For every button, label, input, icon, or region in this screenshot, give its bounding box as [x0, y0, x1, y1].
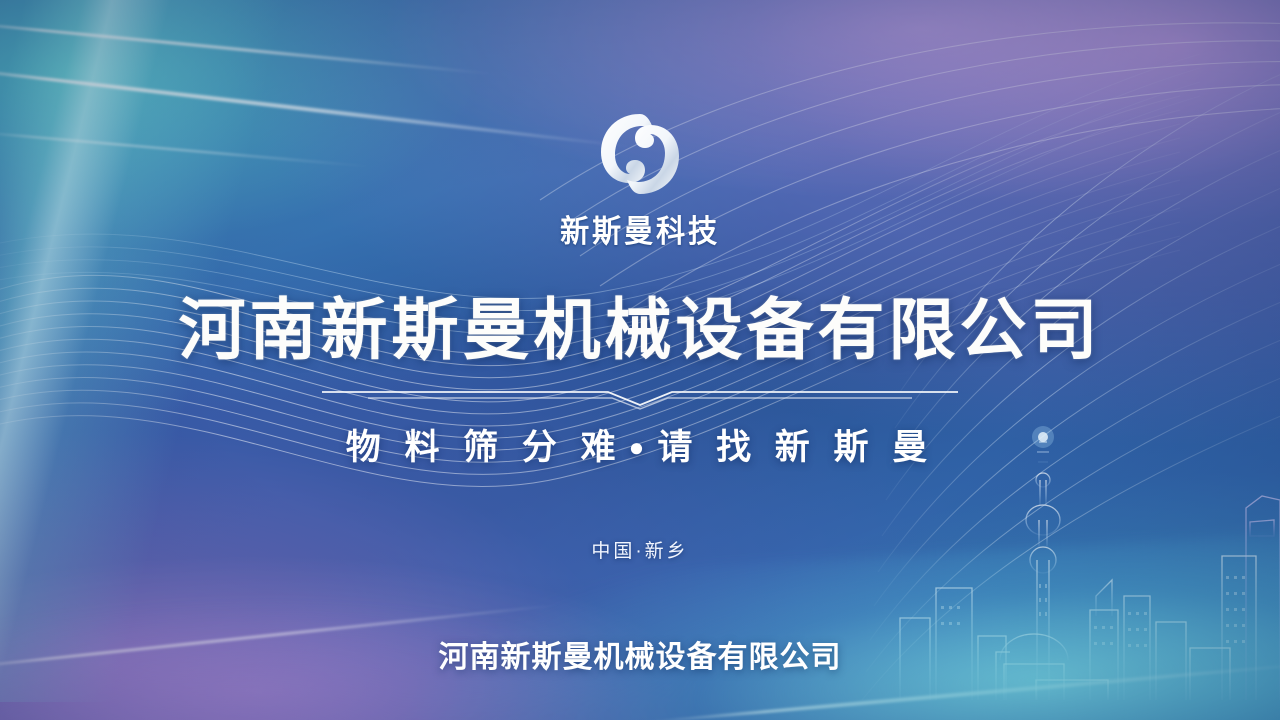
chevron-divider-ornament — [322, 385, 958, 411]
slogan: 物 料 筛 分 难●请 找 新 斯 曼 — [346, 419, 935, 470]
poster-canvas: 新斯曼科技 河南新斯曼机械设备有限公司 物 料 筛 分 难●请 找 新 斯 曼 … — [0, 0, 1280, 720]
slogan-right: 请 找 新 斯 曼 — [657, 428, 934, 467]
poster-content: 新斯曼科技 河南新斯曼机械设备有限公司 物 料 筛 分 难●请 找 新 斯 曼 … — [0, 0, 1280, 720]
swirl-s-logo-icon — [588, 108, 692, 200]
slogan-left: 物 料 筛 分 难 — [346, 428, 623, 467]
slogan-bullet-icon: ● — [629, 432, 652, 463]
page-title: 河南新斯曼机械设备有限公司 — [179, 295, 1102, 369]
location-label: 中国·新乡 — [591, 536, 688, 563]
footer-caption: 河南新斯曼机械设备有限公司 — [0, 632, 1280, 676]
brand-logo: 新斯曼科技 — [555, 108, 725, 251]
logo-wordmark: 新斯曼科技 — [560, 206, 720, 251]
